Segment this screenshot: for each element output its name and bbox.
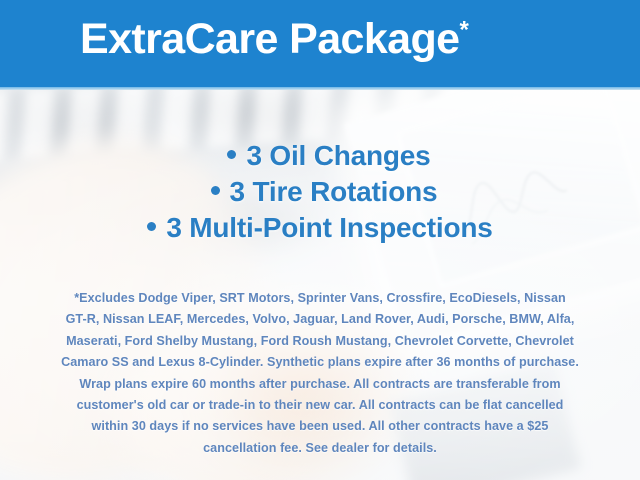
benefit-item: 3 Tire Rotations [0,174,640,210]
page-title: ExtraCare Package* [80,13,468,67]
benefit-item: 3 Oil Changes [0,138,640,174]
disclaimer-line: within 30 days if no services have been … [24,416,616,437]
benefit-item-label: 3 Oil Changes [246,140,430,171]
disclaimer-line: customer's old car or trade-in to their … [24,395,616,416]
benefits-list: 3 Oil Changes 3 Tire Rotations 3 Multi-P… [0,138,640,246]
disclaimer-line: *Excludes Dodge Viper, SRT Motors, Sprin… [24,288,616,309]
header-divider [0,87,640,90]
benefit-item: 3 Multi-Point Inspections [0,210,640,246]
disclaimer-line: Maserati, Ford Shelby Mustang, Ford Rous… [24,331,616,352]
disclaimer-line: Camaro SS and Lexus 8-Cylinder. Syntheti… [24,352,616,373]
bullet-dot-icon [211,186,220,195]
bullet-dot-icon [227,150,236,159]
benefit-item-label: 3 Multi-Point Inspections [166,212,492,243]
disclaimer-line: GT-R, Nissan LEAF, Mercedes, Volvo, Jagu… [24,309,616,330]
disclaimer-line: cancellation fee. See dealer for details… [24,438,616,459]
page-title-asterisk: * [459,17,468,44]
benefit-item-label: 3 Tire Rotations [230,176,438,207]
bullet-dot-icon [147,222,156,231]
disclaimer-line: Wrap plans expire 60 months after purcha… [24,374,616,395]
disclaimer-text: *Excludes Dodge Viper, SRT Motors, Sprin… [24,288,616,459]
extracare-package-ad: ExtraCare Package* 3 Oil Changes 3 Tire … [0,0,640,480]
page-title-text: ExtraCare Package [80,15,459,63]
